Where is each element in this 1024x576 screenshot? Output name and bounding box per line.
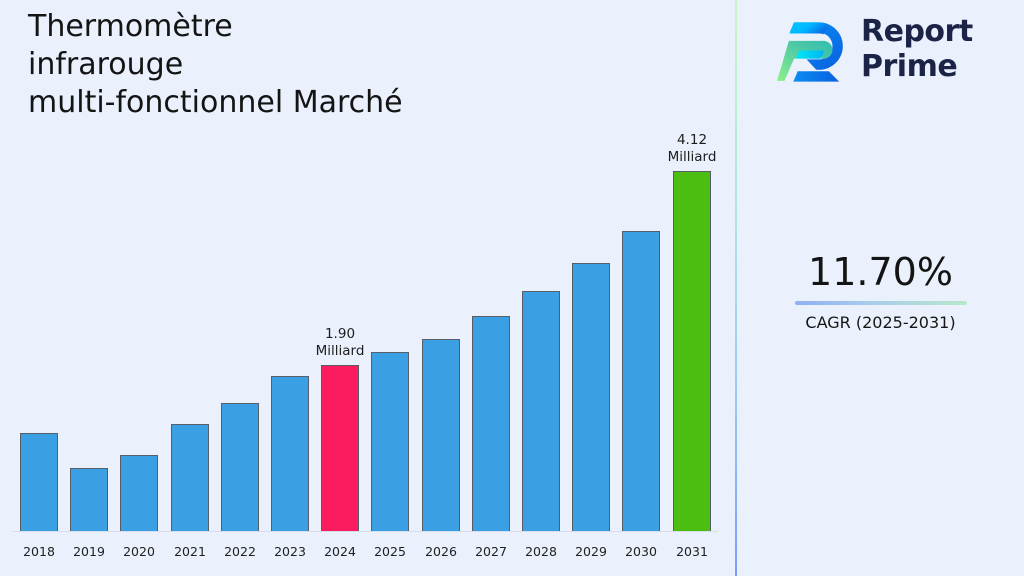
x-tick-2026: 2026 (419, 544, 463, 559)
bar-2026 (422, 339, 460, 531)
bar-2023 (271, 376, 309, 531)
bar-rect-2020 (120, 455, 158, 531)
chart-plot-area: 1.90 Milliard4.12 Milliard (0, 130, 736, 532)
x-tick-2027: 2027 (469, 544, 513, 559)
x-tick-2020: 2020 (117, 544, 161, 559)
bar-rect-2024 (321, 365, 359, 531)
x-tick-2019: 2019 (67, 544, 111, 559)
x-tick-2022: 2022 (218, 544, 262, 559)
x-tick-2031: 2031 (670, 544, 714, 559)
x-tick-2021: 2021 (168, 544, 212, 559)
bar-chart: 1.90 Milliard4.12 Milliard 2018201920202… (0, 130, 736, 576)
x-tick-2018: 2018 (17, 544, 61, 559)
report-prime-logo-mark (777, 18, 851, 86)
x-tick-2024: 2024 (318, 544, 362, 559)
x-tick-2030: 2030 (619, 544, 663, 559)
bar-rect-2022 (221, 403, 259, 531)
bar-2030 (622, 231, 660, 531)
bar-rect-2027 (472, 316, 510, 531)
chart-panel: Thermomètre infrarouge multi-fonctionnel… (0, 0, 736, 576)
bar-rect-2029 (572, 263, 610, 531)
bar-rect-2031 (673, 171, 711, 531)
cagr-block: 11.70% CAGR (2025-2031) (737, 250, 1024, 332)
report-prime-logo: Report Prime (777, 14, 1007, 90)
chart-x-axis: 2018201920202021202220232024202520262027… (0, 534, 736, 576)
infographic-root: Thermomètre infrarouge multi-fonctionnel… (0, 0, 1024, 576)
bar-2027 (472, 316, 510, 531)
bar-value-label-2031: 4.12 Milliard (637, 132, 747, 166)
bar-2024 (321, 365, 359, 531)
bar-rect-2018 (20, 433, 58, 531)
summary-panel: Report Prime 11.70% CAGR (2025-2031) (737, 0, 1024, 576)
x-tick-2025: 2025 (368, 544, 412, 559)
x-tick-2028: 2028 (519, 544, 563, 559)
bar-rect-2025 (371, 352, 409, 531)
bar-2021 (171, 424, 209, 531)
cagr-value: 11.70% (737, 250, 1024, 294)
bar-2031 (673, 171, 711, 531)
chart-baseline (12, 531, 718, 532)
cagr-divider-rule (795, 301, 967, 305)
bar-2020 (120, 455, 158, 531)
report-prime-wordmark: Report Prime (861, 14, 973, 84)
bar-rect-2023 (271, 376, 309, 531)
bar-2022 (221, 403, 259, 531)
bar-2018 (20, 433, 58, 531)
bar-2025 (371, 352, 409, 531)
bar-2029 (572, 263, 610, 531)
bar-rect-2028 (522, 291, 560, 531)
bar-2019 (70, 468, 108, 531)
bar-2028 (522, 291, 560, 531)
bar-rect-2019 (70, 468, 108, 531)
bar-rect-2021 (171, 424, 209, 531)
bar-rect-2030 (622, 231, 660, 531)
page-title: Thermomètre infrarouge multi-fonctionnel… (28, 8, 688, 122)
cagr-caption: CAGR (2025-2031) (737, 313, 1024, 332)
bar-rect-2026 (422, 339, 460, 531)
x-tick-2029: 2029 (569, 544, 613, 559)
x-tick-2023: 2023 (268, 544, 312, 559)
